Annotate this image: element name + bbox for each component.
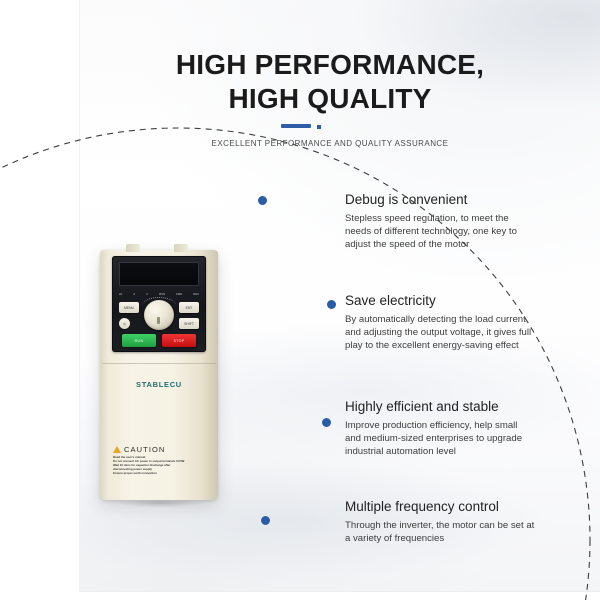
feature-title-2: Save electricity [345,292,535,309]
brand-logo-text: STABLECU [100,380,218,389]
led-label-v: V [146,293,148,297]
ent-button[interactable]: ENT [179,302,199,313]
feature-title-4: Multiple frequency control [345,498,535,515]
led-label-run: RUN [159,293,165,297]
title-divider-bar [281,124,311,128]
device-top-tab-left [126,244,140,252]
device-seam-line [102,363,216,364]
feature-body-4: Through the inverter, the motor can be s… [345,519,535,545]
led-label-hz: Hz [119,293,122,297]
connector-node-2 [327,300,336,309]
title-line-2: HIGH QUALITY [120,82,540,116]
device-top-tab-right [174,244,188,252]
warning-triangle-icon [113,446,121,453]
caution-word: CAUTION [124,445,165,454]
menu-button[interactable]: MENU [119,302,139,313]
run-button[interactable]: RUN [122,334,156,347]
feature-block-2: Save electricity By automatically detect… [345,292,535,353]
caution-heading: CAUTION [113,445,209,454]
feature-body-2: By automatically detecting the load curr… [345,313,535,353]
page-subtitle: EXCELLENT PERFORMANCE AND QUALITY ASSURA… [130,138,530,150]
connector-node-4 [261,516,270,525]
page-title: HIGH PERFORMANCE, HIGH QUALITY [120,48,540,116]
rotary-knob[interactable] [144,300,174,330]
feature-block-4: Multiple frequency control Through the i… [345,498,535,545]
title-line-1: HIGH PERFORMANCE, [176,49,484,80]
shift-button[interactable]: SHIFT [179,318,199,329]
marketing-banner: HIGH PERFORMANCE, HIGH QUALITY EXCELLENT… [0,0,600,600]
feature-title-1: Debug is convenient [345,191,535,208]
connector-node-1 [258,196,267,205]
feature-block-1: Debug is convenient Stepless speed regul… [345,191,535,252]
feature-body-3: Improve production efficiency, help smal… [345,419,535,459]
prog-button[interactable]: ◎ [119,318,130,329]
connector-node-3 [322,418,331,427]
feature-title-3: Highly efficient and stable [345,398,535,415]
led-label-a: A [133,293,135,297]
display-screen [119,262,199,286]
feature-block-3: Highly efficient and stable Improve prod… [345,398,535,459]
stop-button[interactable]: STOP [162,334,196,347]
caution-line-5: Ensure proper earth connection [113,472,209,476]
caution-text-lines: Read the user's manual Do not connect AC… [113,456,209,476]
led-label-rev: REV [193,293,199,297]
caution-label: CAUTION Read the user's manual Do not co… [113,445,209,476]
led-label-fwd: FWD [176,293,182,297]
feature-body-1: Stepless speed regulation, to meet the n… [345,212,535,252]
product-image-vfd-inverter: Hz A V RUN FWD REV MENU ENT ◎ SHIFT RUN … [100,250,218,500]
title-divider-dot [317,125,321,129]
control-panel: Hz A V RUN FWD REV MENU ENT ◎ SHIFT RUN … [112,256,206,352]
